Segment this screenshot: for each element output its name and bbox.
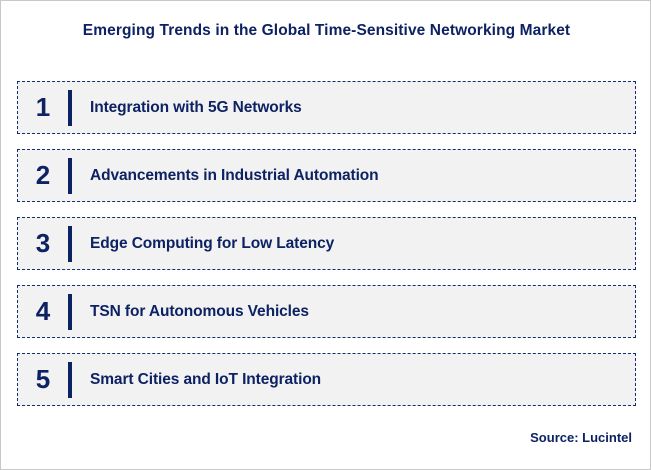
page-title: Emerging Trends in the Global Time-Sensi… — [1, 22, 651, 40]
trend-label: Edge Computing for Low Latency — [72, 235, 635, 253]
infographic-canvas: Emerging Trends in the Global Time-Sensi… — [0, 0, 651, 470]
trend-label: Integration with 5G Networks — [72, 99, 635, 117]
trend-label: Smart Cities and IoT Integration — [72, 371, 635, 389]
trend-rank-number: 1 — [18, 94, 68, 122]
list-item[interactable]: 5 Smart Cities and IoT Integration — [17, 353, 636, 406]
trend-rank-number: 2 — [18, 162, 68, 190]
list-item[interactable]: 4 TSN for Autonomous Vehicles — [17, 285, 636, 338]
list-item[interactable]: 3 Edge Computing for Low Latency — [17, 217, 636, 270]
trend-label: Advancements in Industrial Automation — [72, 167, 635, 185]
trend-rank-number: 3 — [18, 230, 68, 258]
trend-rank-number: 5 — [18, 366, 68, 394]
list-item[interactable]: 1 Integration with 5G Networks — [17, 81, 636, 134]
list-item[interactable]: 2 Advancements in Industrial Automation — [17, 149, 636, 202]
source-attribution: Source: Lucintel — [530, 430, 632, 445]
trend-rank-number: 4 — [18, 298, 68, 326]
trend-label: TSN for Autonomous Vehicles — [72, 303, 635, 321]
trend-list: 1 Integration with 5G Networks 2 Advance… — [17, 81, 636, 406]
